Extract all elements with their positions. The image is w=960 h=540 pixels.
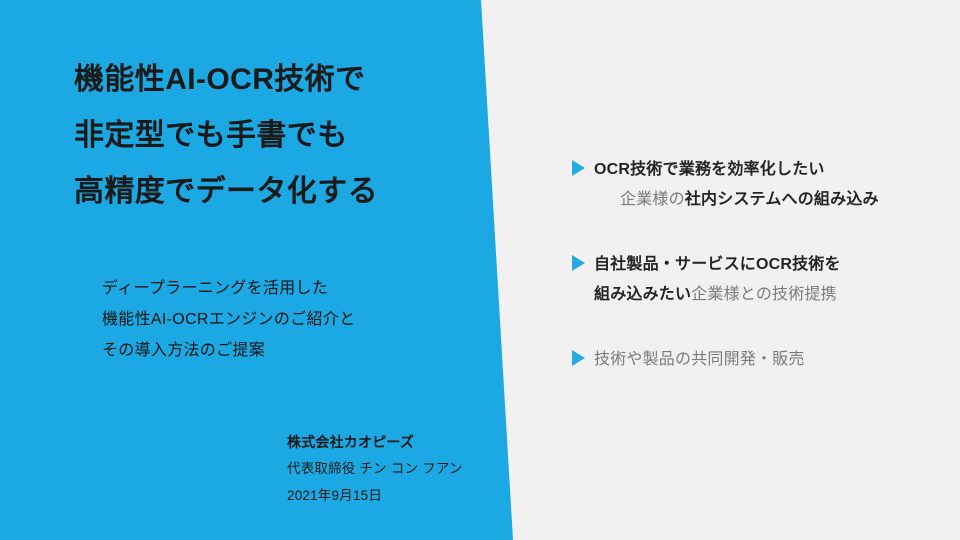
bullet-body: OCR技術で業務を効率化したい 企業様の社内システムへの組み込み: [570, 155, 940, 215]
slide-headline: 機能性AI-OCR技術で 非定型でも手書でも 高精度でデータ化する: [74, 52, 474, 220]
bullet-text-run: 自社製品・サービスにOCR技術を: [594, 256, 841, 273]
company-name: 株式会社カオピーズ: [287, 429, 507, 455]
list-item: 自社製品・サービスにOCR技術を 組み込みたい企業様との技術提携: [570, 250, 940, 310]
bullet-text-run: 企業様の: [620, 191, 685, 208]
bullet-text-run: 技術や製品の共同開発・販売: [594, 351, 805, 368]
presentation-date: 2021年9月15日: [287, 482, 507, 509]
bullet-text-run: 社内システムへの組み込み: [685, 191, 879, 208]
slide-subdescription: ディープラーニングを活用した 機能性AI-OCRエンジンのご紹介と その導入方法…: [102, 273, 462, 366]
company-credit-block: 株式会社カオピーズ 代表取締役 チン コン フアン 2021年9月15日: [287, 429, 507, 509]
bullet-text-run: 企業様との技術提携: [691, 286, 837, 303]
bullet-line-primary: 自社製品・サービスにOCR技術を: [594, 250, 940, 280]
list-item: 技術や製品の共同開発・販売: [570, 345, 940, 375]
bullet-text-run: OCR技術で業務を効率化したい: [594, 161, 825, 178]
triangle-right-icon: [572, 160, 585, 176]
subdescription-line-2: 機能性AI-OCRエンジンのご紹介と: [102, 304, 462, 335]
bullet-body: 自社製品・サービスにOCR技術を 組み込みたい企業様との技術提携: [570, 250, 940, 310]
presentation-slide: 機能性AI-OCR技術で 非定型でも手書でも 高精度でデータ化する ディープラー…: [0, 0, 960, 540]
subdescription-line-1: ディープラーニングを活用した: [102, 273, 462, 304]
headline-line-2: 非定型でも手書でも: [74, 108, 474, 164]
triangle-right-icon: [572, 255, 585, 271]
subdescription-line-3: その導入方法のご提案: [102, 335, 462, 366]
bullet-line-secondary: 企業様の社内システムへの組み込み: [594, 185, 940, 215]
target-audience-bullet-list: OCR技術で業務を効率化したい 企業様の社内システムへの組み込み 自社製品・サー…: [570, 155, 940, 375]
headline-line-1: 機能性AI-OCR技術で: [74, 52, 474, 108]
company-representative: 代表取締役 チン コン フアン: [287, 455, 507, 482]
bullet-body: 技術や製品の共同開発・販売: [570, 345, 940, 375]
triangle-right-icon: [572, 350, 585, 366]
bullet-line-primary: 技術や製品の共同開発・販売: [594, 345, 940, 375]
bullet-line-secondary: 組み込みたい企業様との技術提携: [594, 280, 940, 310]
bullet-text-run: 組み込みたい: [594, 286, 691, 303]
headline-line-3: 高精度でデータ化する: [74, 164, 474, 220]
list-item: OCR技術で業務を効率化したい 企業様の社内システムへの組み込み: [570, 155, 940, 215]
bullet-line-primary: OCR技術で業務を効率化したい: [594, 155, 940, 185]
